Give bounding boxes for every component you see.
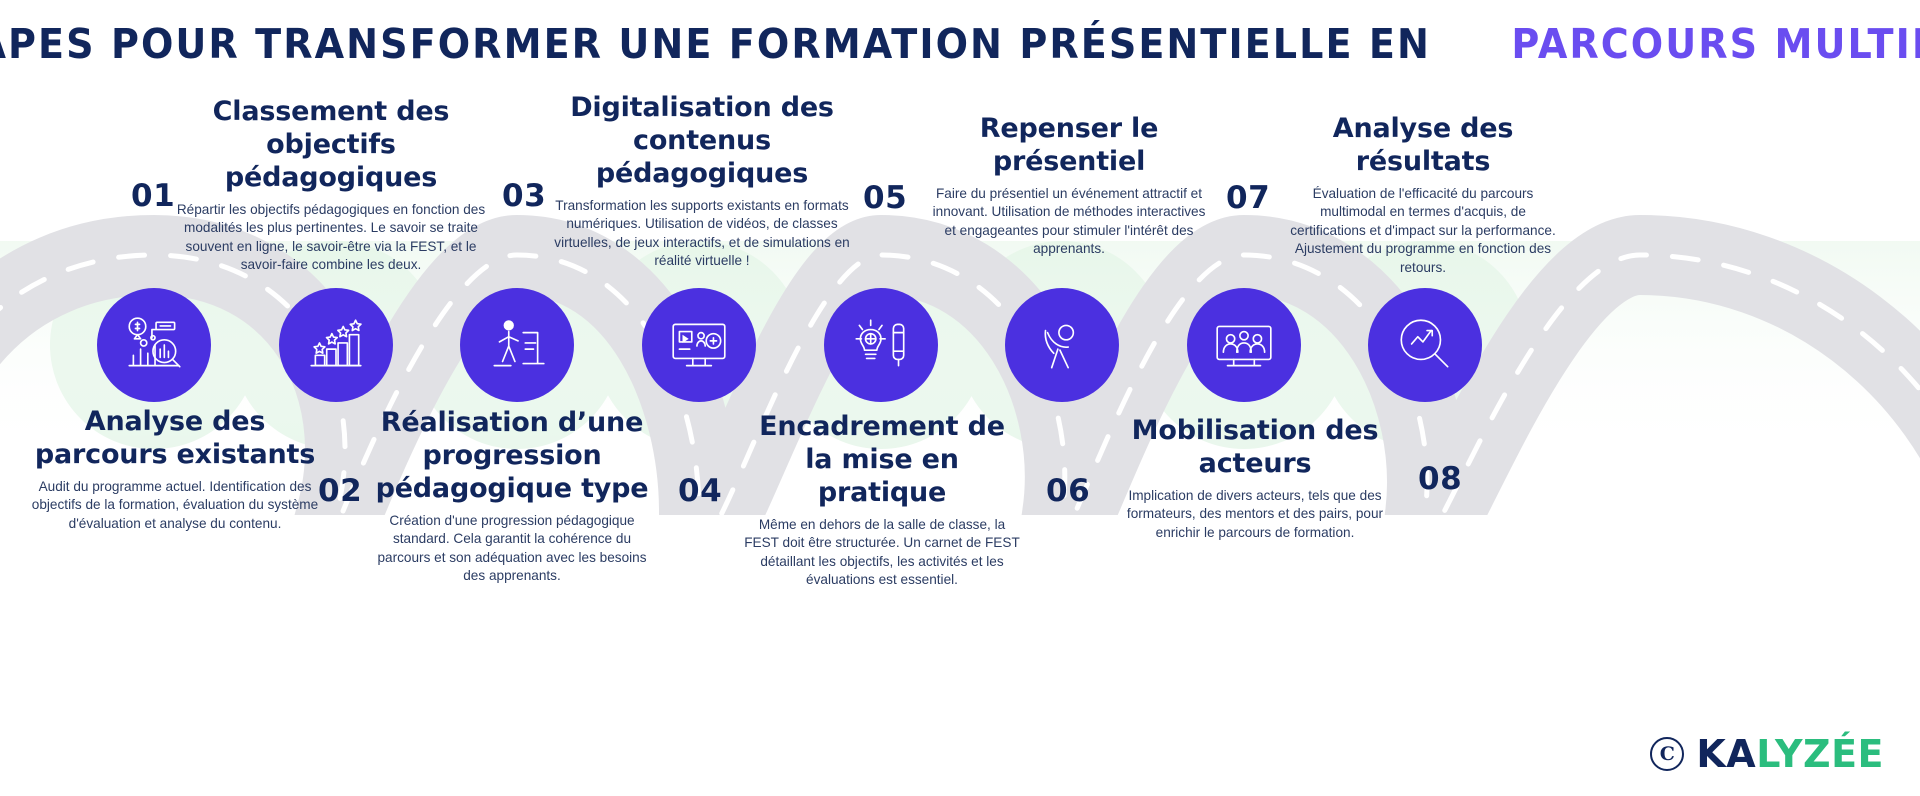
page-title-main: 8 étapes pour transformer une formation … [0,20,1431,68]
step-heading-04: Réalisation d’une progression pédagogiqu… [366,406,658,505]
step-number-07: 07 [1226,180,1270,216]
step-node-08[interactable] [1368,288,1482,402]
kalyzee-logo: C KA LYZÉE [1650,732,1884,776]
magnifier-trend-icon [1392,312,1458,378]
step-text-01: Classement des objectifs pédagogiques Ré… [176,95,486,275]
step-heading-06: Encadrement de la mise en pratique [742,410,1022,509]
logo-word-part-a: KA [1696,732,1756,776]
teacher-presenting-icon [484,312,550,378]
copyright-icon: C [1650,737,1684,771]
step-body-03: Transformation les supports existants en… [547,197,857,271]
step-number-01: 01 [131,178,175,214]
page-title: 8 étapes pour transformer une formation … [0,12,1920,76]
step-text-02: Analyse des parcours existants Audit du … [17,405,333,533]
step-body-06: Même en dehors de la salle de classe, la… [742,516,1022,590]
step-node-02[interactable] [279,288,393,402]
step-node-03[interactable] [460,288,574,402]
step-number-05: 05 [863,180,907,216]
bar-chart-stars-icon [303,312,369,378]
step-number-06: 06 [1046,473,1090,509]
step-number-02: 02 [318,473,362,509]
step-heading-03: Digitalisation des contenus pédagogiques [547,91,857,190]
step-body-02: Audit du programme actuel. Identificatio… [17,478,333,533]
step-node-06[interactable] [1005,288,1119,402]
step-text-03: Digitalisation des contenus pédagogiques… [547,91,857,271]
step-text-06: Encadrement de la mise en pratique Même … [742,410,1022,590]
step-text-05: Repenser le présentiel Faire du présenti… [930,112,1208,259]
logo-word-part-b: LYZÉE [1756,732,1884,776]
step-heading-01: Classement des objectifs pédagogiques [176,95,486,194]
step-text-08: Mobilisation des acteurs Implication de … [1110,414,1400,542]
monitor-elearning-icon [666,312,732,378]
step-node-01[interactable] [97,288,211,402]
step-body-07: Évaluation de l'efficacité du parcours m… [1288,185,1558,277]
logo-wordmark: KA LYZÉE [1696,732,1884,776]
step-heading-08: Mobilisation des acteurs [1110,414,1400,480]
step-text-07: Analyse des résultats Évaluation de l'ef… [1288,112,1558,277]
step-text-04: Réalisation d’une progression pédagogiqu… [366,406,658,586]
lightbulb-gear-idea-icon [848,312,914,378]
person-achievement-icon [1029,312,1095,378]
step-body-04: Création d'une progression pédagogique s… [366,512,658,586]
step-node-04[interactable] [642,288,756,402]
step-body-01: Répartir les objectifs pédagogiques en f… [176,201,486,275]
step-node-07[interactable] [1187,288,1301,402]
step-heading-05: Repenser le présentiel [930,112,1208,178]
chart-magnifier-analysis-icon [121,312,187,378]
step-number-08: 08 [1418,461,1462,497]
step-body-08: Implication de divers acteurs, tels que … [1110,487,1400,542]
step-heading-02: Analyse des parcours existants [17,405,333,471]
step-number-03: 03 [502,178,546,214]
step-heading-07: Analyse des résultats [1288,112,1558,178]
page-title-accent: parcours multimodal [1511,20,1920,68]
team-collaboration-icon [1211,312,1277,378]
step-node-05[interactable] [824,288,938,402]
step-number-04: 04 [678,473,722,509]
step-body-05: Faire du présentiel un événement attract… [930,185,1208,259]
